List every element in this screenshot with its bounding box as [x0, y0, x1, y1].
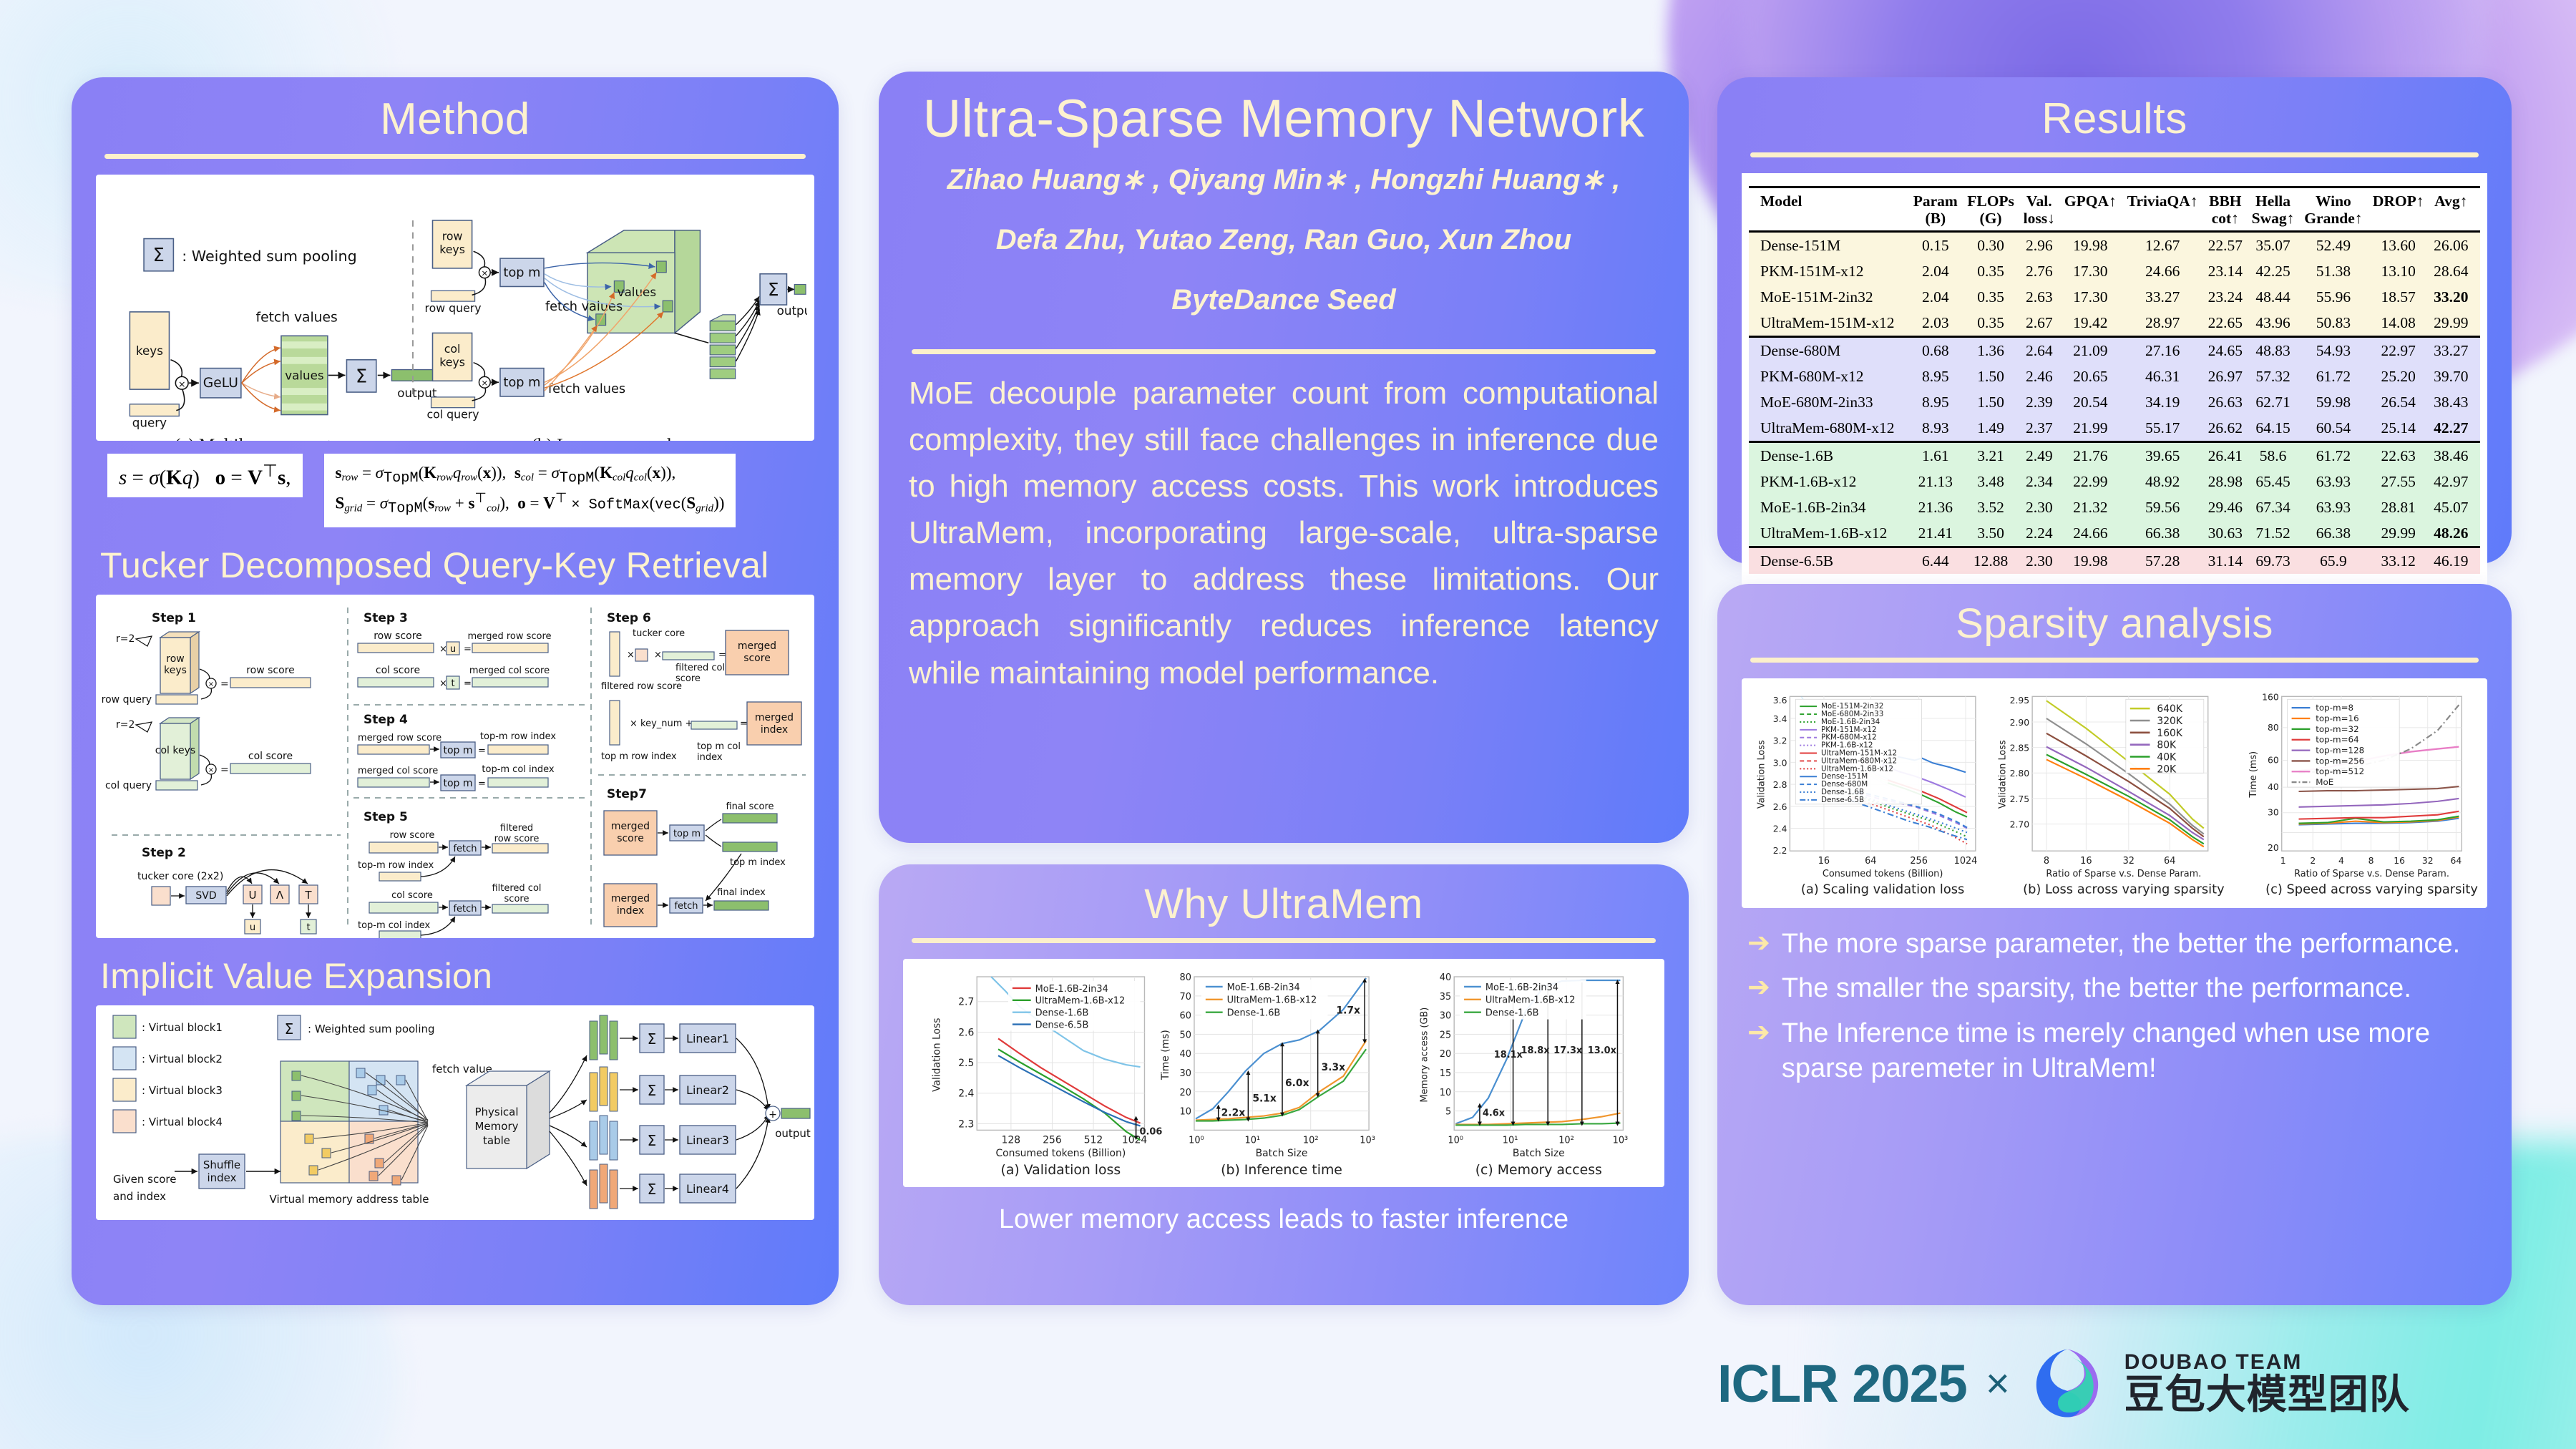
svg-text:merged: merged: [611, 821, 650, 832]
table-cell: 34.19: [2122, 389, 2204, 415]
svg-text:30: 30: [2268, 808, 2279, 818]
table-cell: 66.38: [2122, 520, 2204, 547]
svg-text:=: =: [478, 779, 486, 789]
svg-text:2.2: 2.2: [1773, 846, 1787, 856]
tucker-subheading: Tucker Decomposed Query-Key Retrieval: [100, 545, 814, 586]
svg-text:keys: keys: [136, 343, 163, 358]
affiliation: ByteDance Seed: [903, 272, 1664, 328]
svg-text:Ratio of Sparse v.s. Dense Par: Ratio of Sparse v.s. Dense Param.: [2294, 869, 2449, 879]
table-cell: Dense-151M: [1749, 232, 1908, 259]
svg-text:2.75: 2.75: [2010, 794, 2030, 804]
table-cell: 65.45: [2247, 469, 2299, 494]
svg-text:top-m col index: top-m col index: [482, 764, 555, 775]
table-cell: 2.96: [2019, 232, 2059, 259]
sparsity-divider: [1750, 658, 2479, 663]
table-cell: 33.12: [2368, 547, 2429, 575]
table-cell: 64.15: [2247, 415, 2299, 442]
svg-text:Memory: Memory: [474, 1120, 518, 1133]
table-cell: 2.04: [1908, 258, 1962, 284]
table-cell: 2.63: [2019, 284, 2059, 310]
table-cell: 22.65: [2204, 310, 2248, 337]
svg-text:15: 15: [1440, 1068, 1451, 1079]
doubao-en-label: DOUBAO TEAM: [2124, 1350, 2410, 1375]
table-row: UltraMem-1.6B-x1221.413.502.2424.6666.38…: [1749, 520, 2480, 547]
svg-text:32: 32: [2422, 856, 2434, 866]
svg-text:top-m=512: top-m=512: [2316, 766, 2364, 776]
svg-text:col score: col score: [248, 751, 293, 762]
svg-text:Σ: Σ: [648, 1030, 657, 1048]
svg-text:merged row score: merged row score: [358, 733, 441, 743]
table-cell: 26.06: [2429, 232, 2480, 259]
table-cell: 46.31: [2122, 364, 2204, 389]
doubao-logo-icon: [2029, 1345, 2106, 1422]
svg-text:Physical: Physical: [474, 1106, 518, 1118]
why-ultramem-caption: Lower memory access leads to faster infe…: [903, 1204, 1664, 1235]
svg-text:top-m=128: top-m=128: [2316, 745, 2364, 755]
svg-text:final index: final index: [717, 887, 766, 898]
svg-text:3.3x: 3.3x: [1322, 1062, 1346, 1073]
svg-text:top-m=64: top-m=64: [2316, 735, 2358, 745]
table-cell: 26.62: [2204, 415, 2248, 442]
table-cell: 27.16: [2122, 337, 2204, 364]
svg-text:30: 30: [1180, 1068, 1191, 1079]
why-ultramem-title: Why UltraMem: [903, 883, 1664, 927]
svg-text:(a) Scaling validation loss: (a) Scaling validation loss: [1801, 882, 1964, 897]
svg-text:row score: row score: [246, 665, 295, 676]
svg-text:10¹: 10¹: [1503, 1135, 1518, 1146]
table-row: MoE-1.6B-2in3421.363.522.3021.3259.5629.…: [1749, 494, 2480, 520]
svg-text:fetch: fetch: [453, 844, 477, 854]
svg-text:final score: final score: [726, 801, 774, 812]
svg-text:2.85: 2.85: [2010, 743, 2030, 753]
table-cell: 1.61: [1908, 442, 1962, 469]
svg-text:3.6: 3.6: [1773, 696, 1787, 706]
th-param: Param(B): [1908, 187, 1962, 232]
svg-text:×: ×: [439, 644, 447, 655]
svg-text:tucker core (2x2): tucker core (2x2): [137, 871, 223, 882]
results-title: Results: [1742, 96, 2487, 141]
svg-text:512: 512: [1084, 1134, 1103, 1146]
poster-title: Ultra-Sparse Memory Network: [903, 90, 1664, 147]
table-cell: 46.19: [2429, 547, 2480, 575]
svg-text:Linear4: Linear4: [686, 1182, 729, 1196]
svg-text:Virtual memory address table: Virtual memory address table: [270, 1193, 429, 1206]
why-ultramem-card: Why UltraMem 2.32.4 2.5: [879, 864, 1689, 1305]
table-cell: 24.66: [2122, 258, 2204, 284]
table-cell: 0.35: [1962, 258, 2019, 284]
svg-text:Memory access (GB): Memory access (GB): [1419, 1008, 1430, 1103]
svg-text:Given score: Given score: [113, 1173, 176, 1186]
svg-text:SVD: SVD: [195, 890, 216, 902]
svg-text:10⁰: 10⁰: [1448, 1135, 1463, 1146]
svg-text:1.7x: 1.7x: [1336, 1005, 1360, 1017]
svg-text:filtered: filtered: [500, 823, 533, 834]
svg-text:row query: row query: [102, 694, 152, 706]
svg-text:Linear3: Linear3: [686, 1133, 729, 1147]
arrow-right-icon: ➔: [1747, 927, 1770, 961]
svg-text:: Virtual block1: : Virtual block1: [142, 1021, 223, 1034]
table-cell: 61.72: [2299, 364, 2368, 389]
table-cell: 29.99: [2429, 310, 2480, 337]
table-cell: 28.81: [2368, 494, 2429, 520]
table-cell: 39.70: [2429, 364, 2480, 389]
svg-text:Σ: Σ: [285, 1020, 294, 1038]
svg-text:col query: col query: [105, 780, 152, 791]
table-cell: 59.56: [2122, 494, 2204, 520]
table-cell: 52.49: [2299, 232, 2368, 259]
sparsity-card: Sparsity analysis 2.22.42.6: [1717, 584, 2512, 1305]
ive-figure: : Virtual block1 : Virtual block2 : Virt…: [96, 1005, 814, 1220]
results-table-head: Model Param(B) FLOPs(G) Val.loss↓ GPQA↑: [1749, 187, 2480, 232]
th-triviaqa: TriviaQA↑: [2122, 187, 2204, 232]
table-cell: 19.42: [2059, 310, 2122, 337]
table-cell: 57.32: [2247, 364, 2299, 389]
svg-text:320K: 320K: [2157, 716, 2182, 727]
sparsity-bullet: ➔The Inference time is merely changed wh…: [1747, 1016, 2483, 1087]
poster-root: Method Σ : Weighted: [0, 0, 2576, 1449]
svg-text:table: table: [483, 1134, 510, 1147]
sparsity-charts-panel: 2.22.42.6 2.83.03.2 3.43.6 Validation Lo…: [1742, 678, 2487, 908]
th-flops: FLOPs(G): [1962, 187, 2019, 232]
table-cell: 63.93: [2299, 494, 2368, 520]
svg-text:t: t: [306, 922, 310, 933]
svg-text:640K: 640K: [2157, 703, 2182, 715]
table-cell: 30.63: [2204, 520, 2248, 547]
table-cell: MoE-1.6B-2in34: [1749, 494, 1908, 520]
table-cell: 45.07: [2429, 494, 2480, 520]
svg-text:: Virtual block4: : Virtual block4: [142, 1116, 223, 1128]
svg-text:fetch: fetch: [674, 901, 698, 912]
svg-text:2.6: 2.6: [958, 1027, 974, 1038]
method-figure: Σ : Weighted sum pooling keys query × Ge…: [96, 175, 814, 441]
svg-text:18.1x: 18.1x: [1494, 1050, 1523, 1060]
svg-text:U: U: [249, 889, 257, 902]
table-cell: 21.76: [2059, 442, 2122, 469]
svg-text:fetch values: fetch values: [256, 311, 338, 326]
doubao-cn-label: 豆包大模型团队: [2124, 1375, 2410, 1417]
svg-text:Step 1: Step 1: [152, 611, 196, 625]
th-bbh: BBHcot↑: [2204, 187, 2248, 232]
hero-card: Ultra-Sparse Memory Network Zihao Huang∗…: [879, 72, 1689, 843]
svg-text:20: 20: [2268, 843, 2279, 853]
svg-text:fetch value: fetch value: [432, 1063, 492, 1075]
svg-text:Dense-6.5B: Dense-6.5B: [1821, 796, 1864, 804]
svg-text:Step 2: Step 2: [142, 846, 186, 860]
table-cell: 23.14: [2204, 258, 2248, 284]
svg-text:(b) Inference time: (b) Inference time: [1221, 1163, 1342, 1178]
svg-text:=: =: [718, 650, 726, 660]
svg-text:index: index: [761, 724, 788, 736]
svg-text:Dense-6.5B: Dense-6.5B: [1035, 1020, 1089, 1030]
svg-text:score: score: [675, 673, 701, 684]
table-cell: 71.52: [2247, 520, 2299, 547]
svg-text:2.80: 2.80: [2010, 769, 2030, 779]
svg-text:col: col: [444, 342, 461, 356]
svg-text:u: u: [450, 644, 456, 655]
svg-text:70: 70: [1180, 992, 1191, 1002]
table-cell: 26.63: [2204, 389, 2248, 415]
table-cell: 0.35: [1962, 284, 2019, 310]
sparsity-bullet: ➔The smaller the sparsity, the better th…: [1747, 971, 2483, 1006]
svg-text:18.8x: 18.8x: [1521, 1045, 1550, 1056]
svg-text:u: u: [250, 922, 255, 933]
svg-text:: Weighted sum pooling: : Weighted sum pooling: [308, 1023, 435, 1035]
svg-text:score: score: [504, 894, 530, 904]
table-cell: MoE-680M-2in33: [1749, 389, 1908, 415]
svg-text:Validation Loss: Validation Loss: [1757, 740, 1767, 809]
svg-text:+: +: [769, 1109, 777, 1121]
table-cell: 29.46: [2204, 494, 2248, 520]
svg-text:80K: 80K: [2157, 739, 2177, 751]
svg-text:Step 6: Step 6: [607, 611, 651, 625]
table-cell: 55.96: [2299, 284, 2368, 310]
svg-text:30: 30: [1440, 1010, 1451, 1021]
table-cell: 66.38: [2299, 520, 2368, 547]
svg-text:top m: top m: [504, 376, 541, 390]
svg-text:top-m row index: top-m row index: [480, 731, 556, 742]
svg-text:tucker core: tucker core: [633, 628, 685, 639]
svg-text:values: values: [285, 368, 323, 382]
results-header-row: Model Param(B) FLOPs(G) Val.loss↓ GPQA↑: [1749, 187, 2480, 232]
svg-text:2: 2: [2310, 856, 2316, 866]
table-cell: 42.27: [2429, 415, 2480, 442]
svg-text:0.06: 0.06: [1140, 1126, 1163, 1137]
svg-text:filtered row score: filtered row score: [601, 681, 682, 692]
why-charts-panel: 2.32.4 2.52.62.7 Validation Loss 128256 …: [903, 959, 1664, 1187]
table-cell: 12.88: [1962, 547, 2019, 575]
table-cell: 12.67: [2122, 232, 2204, 259]
table-cell: 21.09: [2059, 337, 2122, 364]
table-cell: 2.76: [2019, 258, 2059, 284]
svg-text:and index: and index: [113, 1190, 166, 1203]
svg-text:: Virtual block2: : Virtual block2: [142, 1053, 223, 1065]
svg-text:10³: 10³: [1360, 1135, 1375, 1146]
table-cell: 65.9: [2299, 547, 2368, 575]
tucker-figure-svg: Step 1 r=2 row keys × = row score row qu…: [96, 595, 814, 938]
method-figure-svg: Σ : Weighted sum pooling keys query × Ge…: [103, 182, 807, 431]
formula-memory: srow = σTopM(Krowqrow(x)), scol = σTopM(…: [324, 454, 736, 527]
sparsity-bullet: ➔The more sparse parameter, the better t…: [1747, 927, 2483, 962]
table-cell: 54.93: [2299, 337, 2368, 364]
svg-text:(a) Validation loss: (a) Validation loss: [1001, 1163, 1121, 1178]
table-cell: 21.36: [1908, 494, 1962, 520]
svg-text:2.4: 2.4: [958, 1088, 974, 1100]
svg-text:top-m=256: top-m=256: [2316, 756, 2364, 766]
table-cell: 20.65: [2059, 364, 2122, 389]
table-cell: 2.30: [2019, 494, 2059, 520]
svg-text:Batch Size: Batch Size: [1256, 1148, 1308, 1159]
method-formulas: s = σ(Kq) o = V⊤s, srow = σTopM(Krowqrow…: [107, 454, 811, 527]
svg-text:Validation Loss: Validation Loss: [932, 1018, 943, 1091]
svg-text:filtered col: filtered col: [675, 663, 725, 673]
table-cell: 2.49: [2019, 442, 2059, 469]
svg-text:256: 256: [1043, 1134, 1061, 1146]
table-cell: 60.54: [2299, 415, 2368, 442]
svg-text:60: 60: [2268, 755, 2279, 765]
table-cell: 2.64: [2019, 337, 2059, 364]
svg-text:2.6: 2.6: [1773, 802, 1787, 812]
svg-text:Λ: Λ: [276, 889, 284, 902]
table-cell: 1.50: [1962, 389, 2019, 415]
table-row: UltraMem-151M-x122.030.352.6719.4228.972…: [1749, 310, 2480, 337]
table-cell: 0.30: [1962, 232, 2019, 259]
svg-text:index: index: [207, 1171, 236, 1184]
svg-text:40: 40: [1440, 972, 1451, 983]
table-cell: 26.54: [2368, 389, 2429, 415]
svg-text:merged: merged: [755, 712, 794, 723]
table-cell: 42.25: [2247, 258, 2299, 284]
table-cell: MoE-151M-2in32: [1749, 284, 1908, 310]
svg-text:col keys: col keys: [155, 745, 195, 756]
table-cell: 8.95: [1908, 364, 1962, 389]
svg-text:8: 8: [2368, 856, 2374, 866]
svg-text:Ratio of Sparse v.s. Dense Par: Ratio of Sparse v.s. Dense Param.: [2046, 869, 2201, 879]
doubao-wordmark: DOUBAO TEAM 豆包大模型团队: [2124, 1350, 2410, 1417]
svg-text:score: score: [743, 653, 771, 664]
svg-text:top m: top m: [504, 266, 541, 280]
svg-text:×: ×: [481, 268, 488, 278]
th-avg: Avg↑: [2429, 187, 2480, 232]
svg-text:(b) Loss across varying sparsi: (b) Loss across varying sparsity: [2023, 882, 2225, 897]
table-cell: 14.08: [2368, 310, 2429, 337]
svg-text:2.70: 2.70: [2010, 819, 2030, 829]
x-symbol: ×: [1986, 1360, 2010, 1407]
svg-text:×: ×: [654, 650, 662, 660]
svg-text:top m: top m: [443, 778, 472, 789]
table-cell: 0.68: [1908, 337, 1962, 364]
svg-text:10: 10: [1440, 1088, 1451, 1098]
svg-text:: Virtual block3: : Virtual block3: [142, 1084, 223, 1097]
table-cell: PKM-1.6B-x12: [1749, 469, 1908, 494]
table-cell: 28.97: [2122, 310, 2204, 337]
svg-text:Dense-1.6B: Dense-1.6B: [1227, 1008, 1281, 1019]
svg-text:index: index: [617, 905, 644, 917]
svg-text:MoE-1.6B-2in34: MoE-1.6B-2in34: [1227, 982, 1300, 993]
table-cell: 43.96: [2247, 310, 2299, 337]
svg-text:r=2: r=2: [116, 719, 135, 731]
table-cell: 38.43: [2429, 389, 2480, 415]
table-cell: 21.99: [2059, 415, 2122, 442]
svg-text:t: t: [451, 678, 454, 689]
table-row: MoE-680M-2in338.951.502.3920.5434.1926.6…: [1749, 389, 2480, 415]
svg-text:UltraMem-1.6B-x12: UltraMem-1.6B-x12: [1035, 996, 1126, 1007]
table-cell: UltraMem-151M-x12: [1749, 310, 1908, 337]
th-winogrande: WinoGrande↑: [2299, 187, 2368, 232]
table-cell: UltraMem-680M-x12: [1749, 415, 1908, 442]
svg-text:×: ×: [178, 379, 186, 390]
footer-branding: ICLR 2025 × DOUBAO TEAM 豆包大模型团队: [1717, 1330, 2562, 1437]
table-cell: 21.13: [1908, 469, 1962, 494]
svg-text:16: 16: [1818, 856, 1830, 867]
table-cell: 1.50: [1962, 364, 2019, 389]
table-cell: 69.73: [2247, 547, 2299, 575]
svg-text:GeLU: GeLU: [203, 376, 238, 391]
svg-text:6.0x: 6.0x: [1285, 1078, 1309, 1089]
svg-text:=: =: [220, 678, 229, 690]
table-cell: 26.97: [2204, 364, 2248, 389]
table-cell: 51.38: [2299, 258, 2368, 284]
svg-text:score: score: [617, 833, 644, 844]
svg-text:80: 80: [2268, 723, 2279, 733]
svg-text:Step 4: Step 4: [364, 713, 408, 727]
svg-text:160: 160: [2262, 692, 2279, 702]
table-cell: 61.72: [2299, 442, 2368, 469]
table-cell: 2.46: [2019, 364, 2059, 389]
why-divider: [912, 938, 1656, 943]
svg-text:× key_num +: × key_num +: [630, 718, 693, 729]
table-cell: 21.41: [1908, 520, 1962, 547]
table-cell: 57.28: [2122, 547, 2204, 575]
svg-text:keys: keys: [439, 243, 465, 256]
results-table-panel: Model Param(B) FLOPs(G) Val.loss↓ GPQA↑: [1742, 173, 2487, 585]
svg-text:17.3x: 17.3x: [1553, 1045, 1583, 1056]
svg-text:8: 8: [2044, 856, 2049, 867]
table-cell: 0.15: [1908, 232, 1962, 259]
svg-text:top m: top m: [443, 745, 472, 756]
table-cell: 2.03: [1908, 310, 1962, 337]
method-card: Method Σ : Weighted: [72, 77, 839, 1305]
svg-text:10¹: 10¹: [1245, 1135, 1261, 1146]
svg-text:keys: keys: [439, 356, 465, 369]
svg-text:60: 60: [1180, 1010, 1191, 1021]
svg-text:×: ×: [208, 680, 214, 688]
svg-text:×: ×: [208, 766, 214, 774]
table-cell: 50.83: [2299, 310, 2368, 337]
svg-text:output: output: [775, 1127, 811, 1140]
svg-text:2.2x: 2.2x: [1221, 1107, 1246, 1118]
table-cell: 48.26: [2429, 520, 2480, 547]
svg-text:64: 64: [2450, 856, 2462, 866]
svg-text:160K: 160K: [2157, 728, 2182, 739]
svg-text:13.0x: 13.0x: [1588, 1045, 1617, 1056]
svg-text:top-m=16: top-m=16: [2316, 713, 2358, 723]
table-cell: 2.37: [2019, 415, 2059, 442]
method-title: Method: [96, 96, 814, 142]
why-charts-svg: 2.32.4 2.52.62.7 Validation Loss 128256 …: [907, 966, 1660, 1181]
svg-text:row score: row score: [390, 830, 435, 841]
svg-text:merged row score: merged row score: [467, 631, 551, 642]
svg-text:output: output: [777, 303, 807, 318]
svg-text:256: 256: [1910, 856, 1928, 867]
svg-text:Σ: Σ: [648, 1132, 657, 1149]
svg-text:fetch values: fetch values: [545, 300, 623, 314]
svg-text:3.2: 3.2: [1773, 736, 1787, 746]
table-cell: 13.60: [2368, 232, 2429, 259]
th-valloss: Val.loss↓: [2019, 187, 2059, 232]
svg-text:40: 40: [2268, 782, 2279, 792]
table-cell: 22.57: [2204, 232, 2248, 259]
table-cell: 19.98: [2059, 547, 2122, 575]
table-cell: PKM-680M-x12: [1749, 364, 1908, 389]
table-row: Dense-1.6B1.613.212.4921.7639.6526.4158.…: [1749, 442, 2480, 469]
table-cell: 0.35: [1962, 310, 2019, 337]
table-cell: Dense-6.5B: [1749, 547, 1908, 575]
table-cell: Dense-1.6B: [1749, 442, 1908, 469]
svg-text:Consumed tokens (Billion): Consumed tokens (Billion): [1823, 869, 1943, 879]
table-cell: 1.49: [1962, 415, 2019, 442]
table-cell: 17.30: [2059, 284, 2122, 310]
svg-text:MoE: MoE: [2316, 777, 2333, 787]
ive-figure-svg: : Virtual block1 : Virtual block2 : Virt…: [96, 1005, 814, 1220]
table-cell: Dense-680M: [1749, 337, 1908, 364]
table-cell: 17.30: [2059, 258, 2122, 284]
svg-text:(c) Memory access: (c) Memory access: [1475, 1163, 1602, 1178]
arrow-right-icon: ➔: [1747, 1016, 1770, 1050]
table-cell: 8.93: [1908, 415, 1962, 442]
svg-text:10²: 10²: [1303, 1135, 1319, 1146]
table-cell: 59.98: [2299, 389, 2368, 415]
table-cell: 18.57: [2368, 284, 2429, 310]
